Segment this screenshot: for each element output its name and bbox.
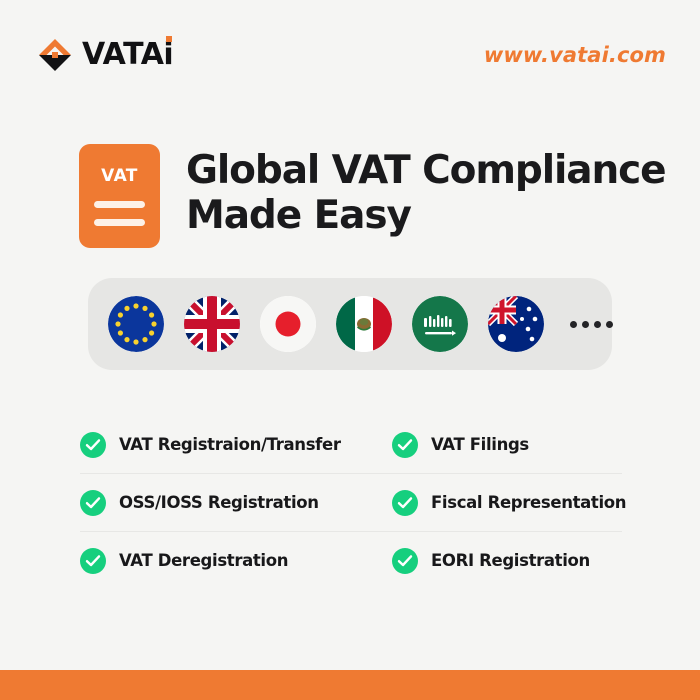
brand-logo[interactable]: VATAi <box>36 36 173 74</box>
headline-line-2: Made Easy <box>186 193 665 238</box>
feature-label: VAT Filings <box>431 435 529 454</box>
vat-document-icon: VAT <box>79 144 160 248</box>
vatai-diamond-logo-icon <box>36 36 74 74</box>
feature-label: VAT Registraion/Transfer <box>119 435 341 454</box>
brand-wordmark-text: VATAi <box>82 37 173 72</box>
dot-3 <box>594 321 601 328</box>
hero-section: VAT Global VAT Compliance Made Easy <box>79 144 679 248</box>
feature-label: OSS/IOSS Registration <box>119 493 319 512</box>
brand-i-dot-icon <box>166 36 172 42</box>
site-url-link[interactable]: www.vatai.com <box>484 43 666 67</box>
feature-item-vat-registration[interactable]: VAT Registraion/Transfer <box>80 432 392 458</box>
brand-wordmark: VATAi <box>82 40 173 70</box>
dot-4 <box>606 321 613 328</box>
feature-item-fiscal-representation[interactable]: Fiscal Representation <box>392 490 626 516</box>
check-circle-icon <box>80 548 106 574</box>
vat-line-2 <box>94 219 145 226</box>
feature-item-vat-filings[interactable]: VAT Filings <box>392 432 622 458</box>
footer-accent-bar <box>0 670 700 700</box>
flag-saudi-arabia-icon <box>412 296 468 352</box>
service-feature-list: VAT Registraion/Transfer VAT Filings OSS… <box>80 416 622 589</box>
check-circle-icon <box>80 432 106 458</box>
check-circle-icon <box>80 490 106 516</box>
feature-row: OSS/IOSS Registration Fiscal Representat… <box>80 474 622 532</box>
flag-japan-icon <box>260 296 316 352</box>
feature-label: VAT Deregistration <box>119 551 288 570</box>
dot-2 <box>582 321 589 328</box>
page-title: Global VAT Compliance Made Easy <box>186 144 665 238</box>
feature-item-oss-ioss-registration[interactable]: OSS/IOSS Registration <box>80 490 392 516</box>
feature-item-eori-registration[interactable]: EORI Registration <box>392 548 622 574</box>
flag-australia-icon <box>488 296 544 352</box>
poster-canvas: VATAi www.vatai.com VAT Global VAT Compl… <box>0 0 700 700</box>
feature-label: Fiscal Representation <box>431 493 626 512</box>
flag-mexico-icon <box>336 296 392 352</box>
headline-line-1: Global VAT Compliance <box>186 148 665 193</box>
page-header: VATAi www.vatai.com <box>0 0 700 110</box>
more-countries-indicator <box>570 321 613 328</box>
dot-1 <box>570 321 577 328</box>
check-circle-icon <box>392 490 418 516</box>
check-circle-icon <box>392 548 418 574</box>
feature-label: EORI Registration <box>431 551 590 570</box>
country-flag-strip <box>88 278 612 370</box>
feature-item-vat-deregistration[interactable]: VAT Deregistration <box>80 548 392 574</box>
check-circle-icon <box>392 432 418 458</box>
feature-row: VAT Registraion/Transfer VAT Filings <box>80 416 622 474</box>
vat-badge-label: VAT <box>79 166 160 186</box>
vat-line-1 <box>94 201 145 208</box>
feature-row: VAT Deregistration EORI Registration <box>80 532 622 589</box>
flag-united-kingdom-icon <box>184 296 240 352</box>
flag-european-union-icon <box>108 296 164 352</box>
